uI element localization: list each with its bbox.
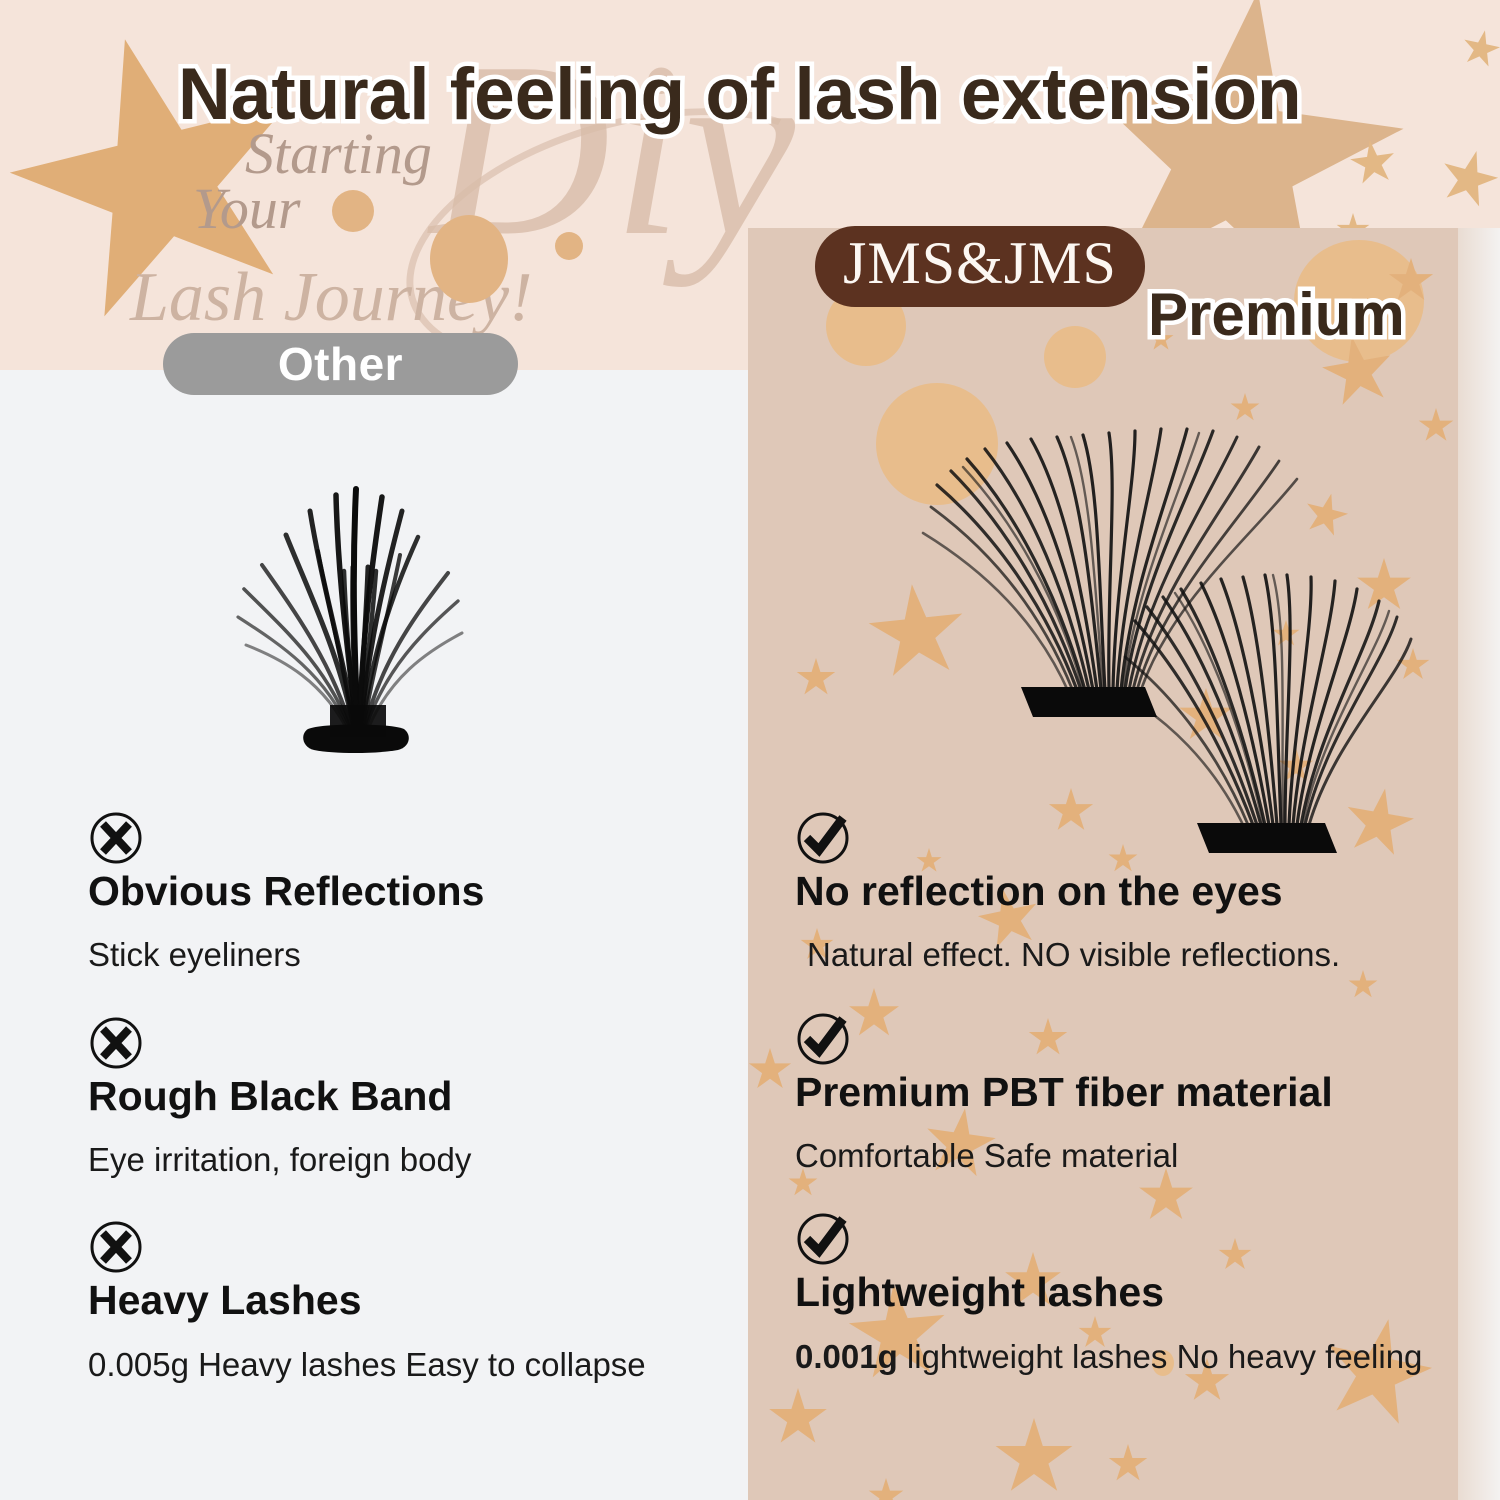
background-script-line2: Your [193,175,301,242]
feature-subtitle: Comfortable Safe material [795,1136,1465,1176]
other-badge: Other [163,333,518,395]
decorative-star-icon [796,658,836,698]
feature-subtitle: 0.005g Heavy lashes Easy to collapse [88,1345,708,1385]
feature-item: Premium PBT fiber material Comfortable S… [795,1011,1465,1176]
other-feature-list: Obvious Reflections Stick eyeliners Roug… [88,810,708,1424]
decorative-star-icon [1108,1444,1148,1484]
premium-badge: Premium [1148,280,1405,349]
other-lash-cluster-image [190,455,520,765]
decorative-star-icon [1458,26,1500,71]
decorative-star-icon [748,1048,792,1092]
feature-item: Lightweight lashes 0.001g lightweight la… [795,1211,1465,1376]
jms-premium-lash-clusters-image [845,345,1425,865]
feature-title: Premium PBT fiber material [795,1069,1465,1116]
cross-circle-icon [88,1219,144,1275]
feature-title: Lightweight lashes [795,1269,1465,1316]
check-circle-icon [795,1211,851,1267]
infographic-canvas: Diy Starting Your Lash Journey! Natural … [0,0,1500,1500]
feature-subtitle: Stick eyeliners [88,935,708,975]
feature-title: Obvious Reflections [88,868,708,915]
decorative-dot [332,190,374,232]
feature-item: Heavy Lashes 0.005g Heavy lashes Easy to… [88,1219,708,1384]
decorative-star-icon [1433,143,1500,214]
check-circle-icon [795,1011,851,1067]
feature-item: No reflection on the eyes Natural effect… [795,810,1465,975]
decorative-dot [430,215,508,303]
premium-feature-list: No reflection on the eyes Natural effect… [795,810,1465,1412]
brand-name: JMS&JMS [843,232,1117,295]
feature-subtitle: 0.001g lightweight lashes No heavy feeli… [795,1337,1465,1377]
page-title-bold: lash extension [795,54,1302,135]
page-title-regular: Natural feeling of [178,54,795,135]
feature-title: No reflection on the eyes [795,868,1465,915]
feature-title: Heavy Lashes [88,1277,708,1324]
cross-circle-icon [88,1015,144,1071]
check-circle-icon [795,810,851,866]
feature-subtitle: Eye irritation, foreign body [88,1140,708,1180]
page-title: Natural feeling of lash extension [178,58,1302,131]
feature-item: Rough Black Band Eye irritation, foreign… [88,1015,708,1180]
feature-title: Rough Black Band [88,1073,708,1120]
decorative-star-icon [868,1478,904,1500]
other-badge-label: Other [278,337,403,391]
feature-subtitle-weight: 0.001g [795,1338,898,1375]
feature-subtitle: Natural effect. NO visible reflections. [795,935,1465,975]
brand-badge: JMS&JMS [815,226,1145,307]
cross-circle-icon [88,810,144,866]
decorative-dot [555,232,583,260]
feature-subtitle-rest: lightweight lashes No heavy feeling [898,1338,1423,1375]
feature-item: Obvious Reflections Stick eyeliners [88,810,708,975]
decorative-star-icon [994,1418,1074,1498]
